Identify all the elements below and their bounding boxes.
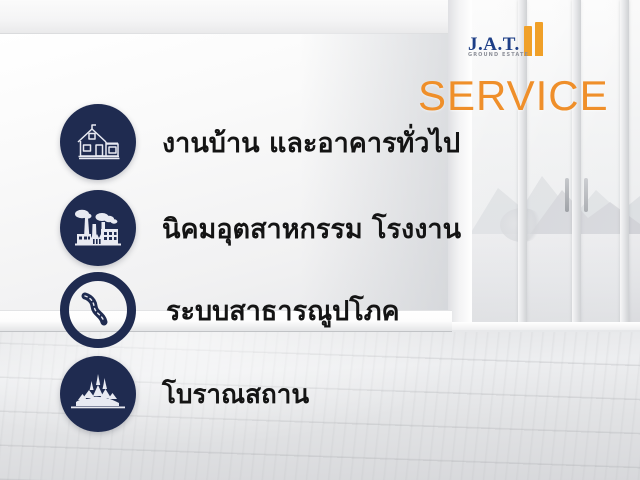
service-label-ancient-site: โบราณสถาน bbox=[162, 374, 309, 415]
service-item-ancient-site: โบราณสถาน bbox=[60, 356, 309, 432]
service-item-house: งานบ้าน และอาคารทั่วไป bbox=[60, 104, 460, 180]
temple-icon bbox=[69, 368, 127, 420]
ancient-site-badge bbox=[60, 356, 136, 432]
house-badge bbox=[60, 104, 136, 180]
service-label-house: งานบ้าน และอาคารทั่วไป bbox=[162, 121, 460, 164]
service-item-utilities: ระบบสาธารณูปโภค bbox=[60, 272, 400, 348]
utilities-badge bbox=[60, 272, 136, 348]
service-list: งานบ้าน และอาคารทั่วไป bbox=[0, 0, 640, 480]
house-icon bbox=[75, 122, 121, 162]
service-label-utilities: ระบบสาธารณูปโภค bbox=[166, 289, 400, 332]
service-label-factory: นิคมอุตสาหกรรม โรงงาน bbox=[162, 207, 461, 250]
winding-road-icon bbox=[76, 288, 120, 332]
factory-badge bbox=[60, 190, 136, 266]
service-banner: J.A.T. GROUND ESTATE SERVICE bbox=[0, 0, 640, 480]
factory-icon bbox=[73, 208, 123, 248]
service-item-factory: นิคมอุตสาหกรรม โรงงาน bbox=[60, 190, 461, 266]
